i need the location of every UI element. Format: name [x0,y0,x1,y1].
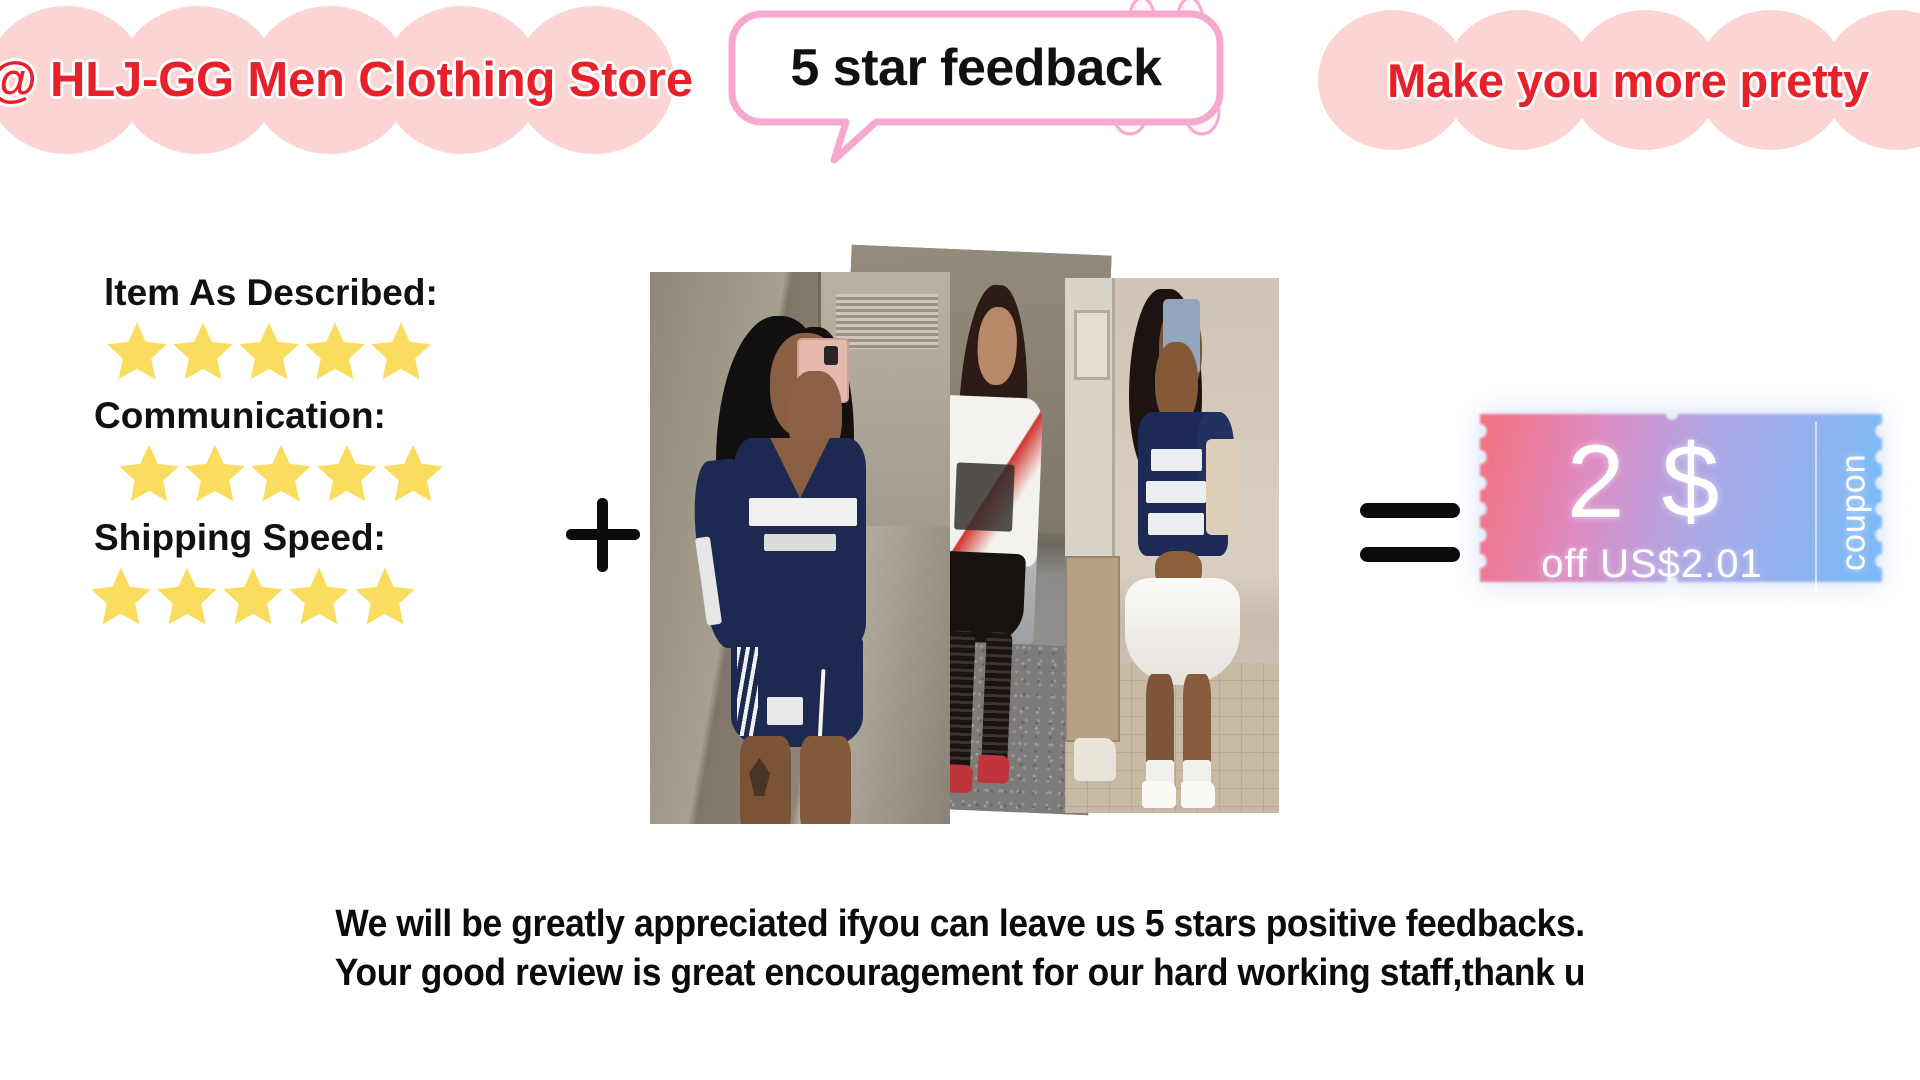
rating-row-item-as-described: ltem As Described: [86,272,516,385]
coupon-amount: 2 $ [1480,418,1810,546]
photo-content [650,272,950,824]
star-icon [86,562,156,630]
slogan-text: Make you more pretty [1387,53,1869,108]
equals-bottom-bar [1360,547,1460,562]
plus-icon [566,498,640,572]
footer-message: We will be greatly appreciated ifyou can… [0,900,1920,997]
star-icon [312,439,382,507]
star-icon [102,317,172,385]
rating-label: Shipping Speed: [94,517,516,560]
feedback-speech-bubble: 5 star feedback [726,8,1256,168]
star-icon [366,317,436,385]
star-icon [168,317,238,385]
footer-line-1: We will be greatly appreciated ifyou can… [67,900,1853,949]
star-icon [246,439,316,507]
star-rating-communication [114,439,516,507]
photo-white-skirt-mirror-selfie [1065,278,1279,813]
star-icon [378,439,448,507]
rating-row-communication: Communication: [86,395,516,508]
photo-blue-jersey-mirror-selfie [650,272,950,824]
photo-content [1065,278,1279,813]
feedback-bubble-text: 5 star feedback [726,8,1226,128]
star-icon [350,562,420,630]
star-icon [218,562,288,630]
slogan-banner: Make you more pretty [1318,6,1920,154]
customer-photo-collage [640,250,1360,830]
star-icon [234,317,304,385]
footer-line-2: Your good review is great encouragement … [67,949,1853,998]
star-rating-item-as-described [102,317,516,385]
star-icon [114,439,184,507]
star-icon [300,317,370,385]
coupon-ticket[interactable]: 2 $ off US$2.01 coupon [1466,400,1906,622]
star-icon [152,562,222,630]
equals-icon [1360,487,1460,563]
rating-row-shipping-speed: Shipping Speed: [86,517,516,630]
rating-label: ltem As Described: [104,272,516,315]
plus-vertical-bar [597,498,608,572]
store-name-text: @ HLJ-GG Men Clothing Store [0,52,693,108]
coupon-subtitle: off US$2.01 [1480,538,1824,590]
ratings-panel: ltem As Described: Communication: Shippi… [86,272,516,640]
coupon-side-label: coupon [1828,422,1880,602]
equals-top-bar [1360,503,1460,518]
store-name-banner: @ HLJ-GG Men Clothing Store [0,6,696,154]
star-icon [180,439,250,507]
star-icon [284,562,354,630]
rating-label: Communication: [94,395,516,438]
star-rating-shipping-speed [86,562,516,630]
